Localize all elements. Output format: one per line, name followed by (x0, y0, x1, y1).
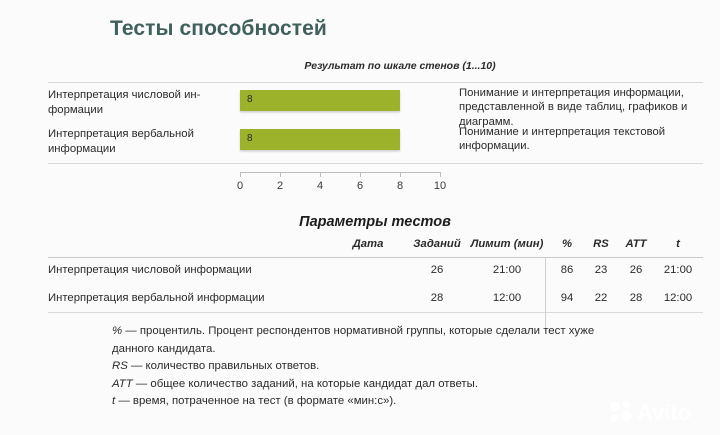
cell-tasks: 28 (406, 292, 468, 304)
axis-tick-label: 2 (277, 180, 283, 192)
chart-subtitle: Результат по шкале стенов (1...10) (240, 60, 560, 72)
chart-category-label: Интерпретация числовой ин-формации (48, 88, 230, 117)
bar-verbal: 8 (240, 129, 400, 150)
column-header-pct: % (550, 238, 584, 250)
chart-row: Интерпретация вербальной информации 8 По… (0, 127, 720, 163)
cell-att: 26 (618, 264, 654, 276)
column-header-att: ATT (618, 238, 654, 250)
bar-track: 8 (240, 90, 440, 112)
footnote-item: RS — количество правильных ответов. (112, 358, 632, 376)
chart-category-label: Интерпретация вербальной информации (48, 127, 230, 156)
params-table: Дата Заданий Лимит (мин) % RS ATT t Инте… (48, 238, 703, 314)
footnote-text: — количество правильных ответов. (128, 360, 320, 372)
column-header-limit: Лимит (мин) (468, 238, 546, 250)
footnote-term: ATT (112, 378, 133, 390)
chart-description: Понимание и интерпретация информации, пр… (459, 86, 705, 129)
footnote-text: — процентиль. Процент респондентов норма… (112, 325, 594, 355)
axis-tick (240, 172, 241, 177)
cell-pct: 94 (550, 292, 584, 304)
column-header-tasks: Заданий (406, 238, 468, 250)
footnote-text: — общее количество заданий, на которые к… (133, 378, 478, 390)
cell-name: Интерпретация числовой информации (48, 264, 348, 276)
params-heading: Параметры тестов (0, 214, 720, 230)
cell-rs: 23 (584, 264, 618, 276)
table-row: Интерпретация вербальной информации 28 1… (48, 292, 703, 311)
cell-rs: 22 (584, 292, 618, 304)
cell-pct: 86 (550, 264, 584, 276)
axis-tick-label: 0 (237, 180, 243, 192)
table-header-row: Дата Заданий Лимит (мин) % RS ATT t (48, 238, 703, 257)
axis-tick-label: 4 (317, 180, 323, 192)
cell-t: 12:00 (654, 292, 702, 304)
chart-axis: 0246810 (240, 172, 440, 200)
column-header-t: t (654, 238, 702, 250)
cell-limit: 12:00 (468, 292, 546, 304)
bar-value-label: 8 (247, 132, 253, 146)
footnote-text: — время, потраченное на тест (в формате … (115, 395, 396, 407)
footnotes-legend: % — процентиль. Процент респондентов нор… (112, 323, 632, 411)
chart-description: Понимание и интерпретация текстовой инфо… (459, 125, 705, 154)
axis-tick-label: 8 (397, 180, 403, 192)
axis-tick (280, 172, 281, 177)
footnote-item: % — процентиль. Процент респондентов нор… (112, 323, 632, 358)
footnote-term: % (112, 325, 122, 337)
axis-line (240, 172, 440, 173)
svg-text:Avito: Avito (637, 400, 691, 425)
divider-chart-bottom (48, 163, 703, 164)
axis-tick (320, 172, 321, 177)
bar-numeric: 8 (240, 90, 400, 111)
column-header-rs: RS (584, 238, 618, 250)
axis-tick (400, 172, 401, 177)
chart-row: Интерпретация числовой ин-формации 8 Пон… (0, 88, 720, 124)
cell-name: Интерпретация вербальной информации (48, 292, 348, 304)
footnote-item: ATT — общее количество заданий, на котор… (112, 376, 632, 394)
table-row: Интерпретация числовой информации 26 21:… (48, 264, 703, 283)
cell-limit: 21:00 (468, 264, 546, 276)
cell-att: 28 (618, 292, 654, 304)
axis-tick-label: 10 (434, 180, 446, 192)
axis-tick (360, 172, 361, 177)
axis-tick (440, 172, 441, 177)
chart-area: Интерпретация числовой ин-формации 8 Пон… (0, 82, 720, 163)
footnote-item: t — время, потраченное на тест (в формат… (112, 393, 632, 411)
bar-value-label: 8 (247, 93, 253, 107)
page-title: Тесты способностей (110, 17, 327, 41)
cell-t: 21:00 (654, 264, 702, 276)
cell-tasks: 26 (406, 264, 468, 276)
footnote-term: RS (112, 360, 128, 372)
report-page: Тесты способностей Результат по шкале ст… (0, 0, 720, 435)
bar-track: 8 (240, 129, 440, 151)
axis-tick-label: 6 (357, 180, 363, 192)
column-header-date: Дата (330, 238, 406, 250)
